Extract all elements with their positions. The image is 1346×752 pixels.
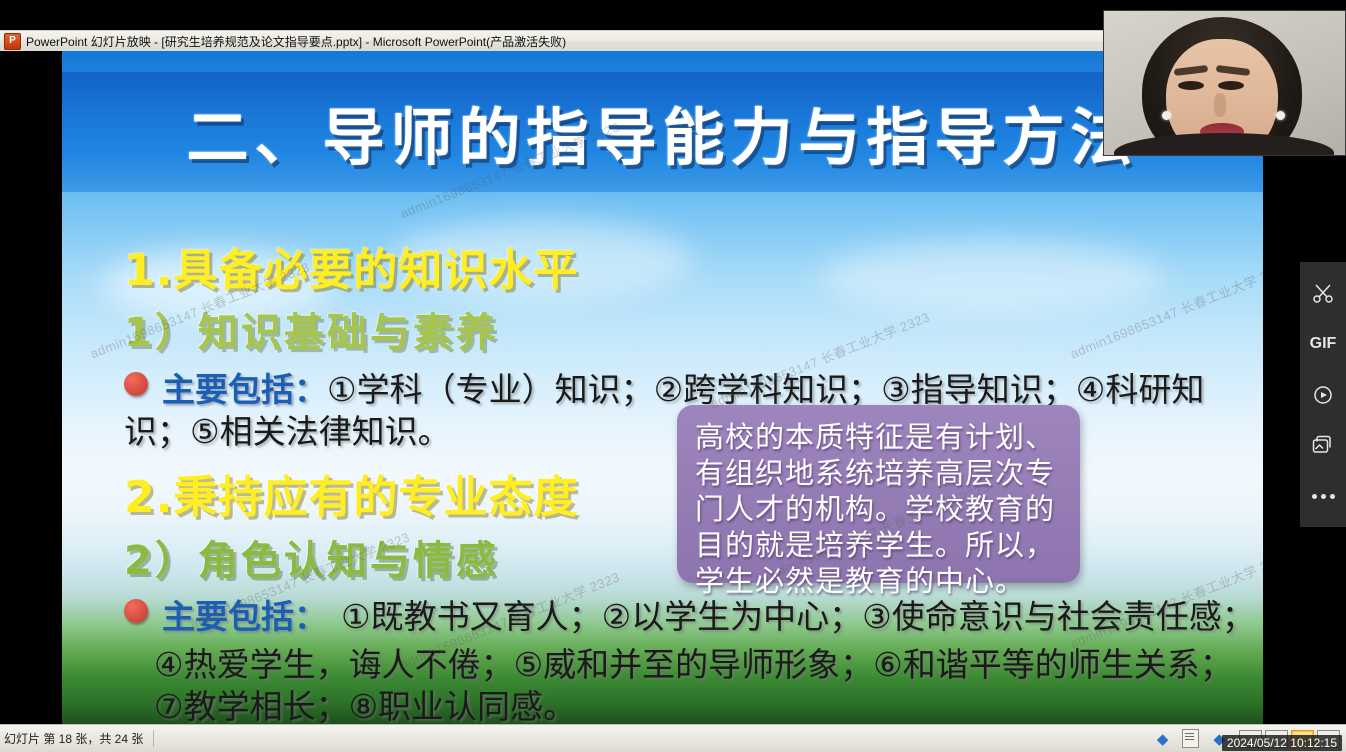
bullet-dot-1 [124,372,148,396]
record-play-icon[interactable] [1308,380,1338,410]
callout-text: 高校的本质特征是有计划、有组织地系统培养高层次专门人才的机构。学校教育的目的就是… [695,419,1062,599]
slide-title: 二、导师的指导能力与指导方法 [62,72,1263,192]
gif-icon[interactable]: GIF [1308,329,1338,359]
bullet-2-line-3: ⑦教学相长；⑧职业认同感。 [154,680,576,725]
cloud-decoration [822,240,1162,315]
webcam-earring-right [1276,111,1285,120]
pen-tool-icon[interactable] [1182,729,1199,748]
tool-rail: GIF [1300,262,1346,527]
status-divider [153,730,154,747]
webcam-nose [1214,93,1226,117]
heading-2: 2.秉持应有的专业态度 [124,461,578,525]
bullet-1-line-2: 识；⑤相关法律知识。 [124,405,451,453]
bullet-dot-2 [124,599,148,623]
recording-timestamp: 2024/05/12 10:12:15 [1222,735,1342,751]
prev-slide-button[interactable]: ◆ [1157,730,1169,748]
bullet-1-line-1: 主要包括：①学科（专业）知识；②跨学科知识；③指导知识；④科研知 [162,363,1204,411]
window-title: PowerPoint 幻灯片放映 - [研究生培养规范及论文指导要点.pptx]… [26,33,566,50]
webcam-eye-left [1178,81,1204,90]
screen-root: PowerPoint 幻灯片放映 - [研究生培养规范及论文指导要点.pptx]… [0,0,1346,752]
slide-counter: 幻灯片 第 18 张，共 24 张 [4,730,143,747]
bullet-2-label: 主要包括： [162,597,327,636]
callout-box: 高校的本质特征是有计划、有组织地系统培养高层次专门人才的机构。学校教育的目的就是… [677,405,1080,583]
screenshot-icon[interactable] [1308,430,1338,460]
subheading-1: 1）知识基础与素养 [124,300,499,358]
webcam-overlay[interactable] [1103,10,1346,156]
slide-canvas[interactable]: 二、导师的指导能力与指导方法 1.具备必要的知识水平 1）知识基础与素养 主要包… [62,50,1263,725]
heading-1: 1.具备必要的知识水平 [124,234,578,298]
bullet-1-label: 主要包括： [162,370,327,409]
bullet-1-text-1: ①学科（专业）知识；②跨学科知识；③指导知识；④科研知 [327,370,1204,409]
bullet-2-line-2: ④热爱学生，诲人不倦；⑤威和并至的导师形象；⑥和谐平等的师生关系； [154,638,1233,686]
webcam-eye-right [1218,81,1244,90]
webcam-earring-left [1162,111,1171,120]
more-icon[interactable] [1308,481,1338,511]
bullet-2-text-1: ①既教书又育人；②以学生为中心；③使命意识与社会责任感； [341,597,1255,636]
powerpoint-icon [4,33,21,50]
scissors-icon[interactable] [1308,278,1338,308]
status-bar: 幻灯片 第 18 张，共 24 张 ◆ ◆ [0,724,1346,752]
subheading-2: 2）角色认知与情感 [124,528,499,586]
